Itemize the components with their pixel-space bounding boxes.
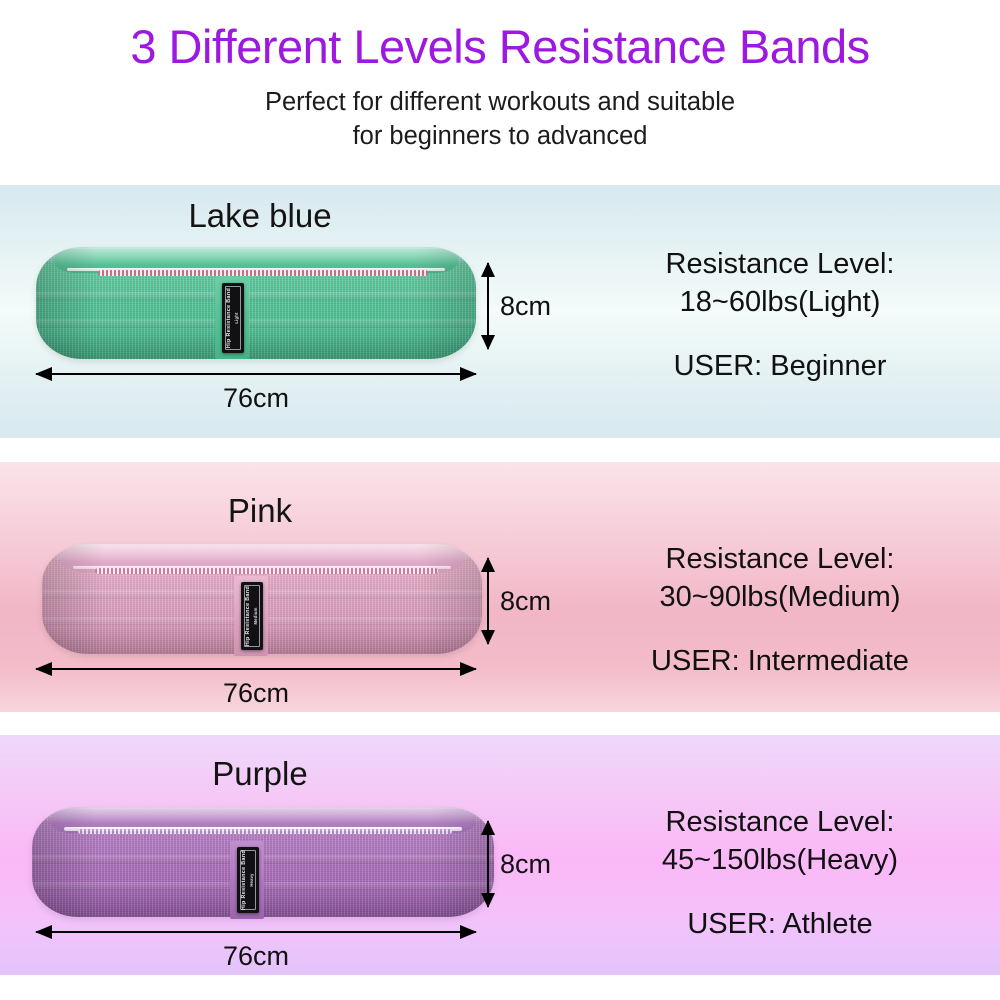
band-top-highlight xyxy=(41,807,485,823)
page-subtitle: Perfect for different workouts and suita… xyxy=(0,86,1000,154)
length-dimension-label: 76cm xyxy=(36,941,476,972)
product-tag: Hip Resistance Band Medium xyxy=(241,582,263,650)
subtitle-line-1: Perfect for different workouts and suita… xyxy=(0,86,1000,120)
width-dimension-label: 8cm xyxy=(500,291,551,322)
length-dimension-arrow xyxy=(36,373,476,375)
band-top-highlight xyxy=(45,247,467,265)
user-level-label: USER: Intermediate xyxy=(570,645,990,678)
resistance-band-illustration: Hip Resistance Band Light xyxy=(36,247,476,359)
band-silicone-grip-line xyxy=(98,270,428,276)
color-name-label: Purple xyxy=(0,755,520,793)
band-top-highlight xyxy=(51,544,473,562)
length-dimension-label: 76cm xyxy=(36,678,476,709)
product-section-purple: Purple Hip Resistance Band Heavy 76cm 8c… xyxy=(0,735,1000,975)
tag-text: Hip Resistance Band Heavy xyxy=(241,850,255,910)
resistance-level-value: 45~150lbs(Heavy) xyxy=(570,841,990,879)
product-tag: Hip Resistance Band Light xyxy=(222,283,244,353)
color-name-label: Pink xyxy=(0,492,520,530)
tag-brand-text: Hip Resistance Band xyxy=(245,586,251,646)
band-body xyxy=(36,247,476,359)
product-section-lake-blue: Lake blue Hip Resistance Band Light 76cm xyxy=(0,185,1000,438)
resistance-level-value: 30~90lbs(Medium) xyxy=(570,578,990,616)
width-dimension-arrow xyxy=(487,558,489,644)
product-section-pink: Pink Hip Resistance Band Medium 76cm 8cm xyxy=(0,462,1000,712)
resistance-band-illustration: Hip Resistance Band Medium xyxy=(42,544,482,654)
resistance-level-label: Resistance Level: xyxy=(570,245,990,283)
infographic-header: 3 Different Levels Resistance Bands Perf… xyxy=(0,0,1000,154)
page-title: 3 Different Levels Resistance Bands xyxy=(0,22,1000,72)
subtitle-line-2: for beginners to advanced xyxy=(0,120,1000,154)
color-name-label: Lake blue xyxy=(0,197,520,235)
user-level-label: USER: Beginner xyxy=(570,350,990,383)
band-silicone-grip-line xyxy=(78,829,452,834)
user-level-label: USER: Athlete xyxy=(570,908,990,941)
length-dimension-label: 76cm xyxy=(36,383,476,414)
tag-text: Hip Resistance Band Light xyxy=(226,288,240,348)
band-silicone-grip-line xyxy=(95,568,438,574)
resistance-level-label: Resistance Level: xyxy=(570,540,990,578)
spec-block: Resistance Level: 18~60lbs(Light) USER: … xyxy=(570,245,990,383)
tag-brand-text: Hip Resistance Band xyxy=(226,288,232,348)
width-dimension-arrow xyxy=(487,821,489,907)
resistance-level-value: 18~60lbs(Light) xyxy=(570,283,990,321)
tag-text: Hip Resistance Band Medium xyxy=(245,586,259,646)
length-dimension-arrow xyxy=(36,668,476,670)
resistance-level-label: Resistance Level: xyxy=(570,803,990,841)
spec-block: Resistance Level: 45~150lbs(Heavy) USER:… xyxy=(570,803,990,941)
width-dimension-label: 8cm xyxy=(500,849,551,880)
width-dimension-label: 8cm xyxy=(500,586,551,617)
resistance-band-illustration: Hip Resistance Band Heavy xyxy=(32,807,494,917)
spec-block: Resistance Level: 30~90lbs(Medium) USER:… xyxy=(570,540,990,678)
band-bottom-shading xyxy=(36,330,476,359)
product-tag: Hip Resistance Band Heavy xyxy=(237,847,259,913)
tag-brand-text: Hip Resistance Band xyxy=(241,850,247,910)
tag-level-text: Light xyxy=(234,288,240,348)
width-dimension-arrow xyxy=(487,263,489,349)
tag-level-text: Heavy xyxy=(249,850,255,910)
tag-level-text: Medium xyxy=(253,586,259,646)
length-dimension-arrow xyxy=(36,931,476,933)
